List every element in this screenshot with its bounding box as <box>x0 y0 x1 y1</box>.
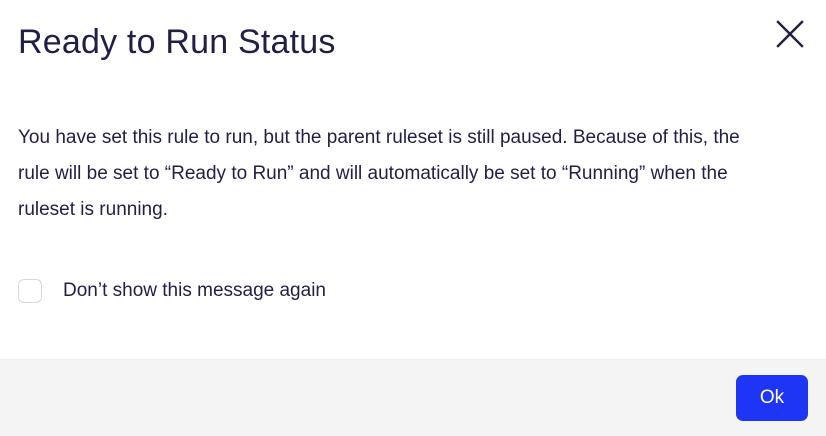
dialog-footer: Ok <box>0 359 826 436</box>
close-button[interactable] <box>770 14 810 54</box>
dialog-body: Ready to Run Status You have set this ru… <box>0 0 826 359</box>
dialog-message: You have set this rule to run, but the p… <box>18 120 758 228</box>
close-icon <box>776 20 804 48</box>
ok-button[interactable]: Ok <box>736 375 808 421</box>
dont-show-again-label: Don’t show this message again <box>63 279 326 303</box>
dont-show-again-checkbox-row[interactable]: Don’t show this message again <box>18 279 326 303</box>
page-title: Ready to Run Status <box>18 22 336 63</box>
dont-show-again-checkbox[interactable] <box>18 279 42 303</box>
ready-to-run-status-dialog: Ready to Run Status You have set this ru… <box>0 0 826 436</box>
